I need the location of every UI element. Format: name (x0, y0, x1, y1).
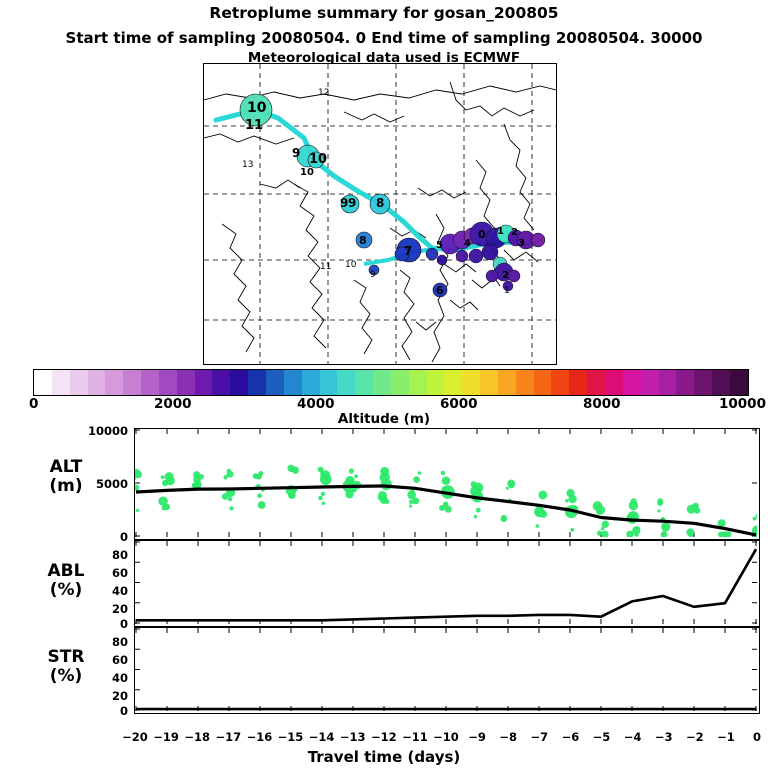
x-axis-tick: −6 (553, 730, 587, 744)
colorbar-swatch (641, 370, 659, 395)
x-axis-tick: −19 (149, 730, 183, 744)
str-ytick: 60 (68, 653, 128, 667)
map-label: 10 (247, 100, 266, 116)
abl-ytick: 80 (68, 548, 128, 562)
colorbar-swatch (177, 370, 195, 395)
colorbar-swatch (195, 370, 213, 395)
colorbar-swatch (391, 370, 409, 395)
colorbar-swatch (337, 370, 355, 395)
colorbar-swatch (266, 370, 284, 395)
colorbar-swatch (623, 370, 641, 395)
colorbar-swatch (516, 370, 534, 395)
x-axis-tick: −1 (709, 730, 743, 744)
colorbar-swatch (480, 370, 498, 395)
colorbar-tick: 2000 (154, 396, 192, 412)
map-label: 8 (376, 196, 384, 210)
x-axis-tick: −18 (180, 730, 214, 744)
map-label: 11 (245, 118, 263, 133)
colorbar-swatch (712, 370, 730, 395)
abl-ytick: 40 (68, 584, 128, 598)
map-label: 3 (518, 238, 525, 249)
colorbar-tick-labels: 0 2000 4000 6000 8000 10000 (33, 396, 747, 412)
colorbar-swatch (587, 370, 605, 395)
colorbar-swatch (355, 370, 373, 395)
map-label: 1 (497, 226, 504, 237)
colorbar-swatch (409, 370, 427, 395)
altitude-colorbar (33, 369, 749, 396)
colorbar-swatch (444, 370, 462, 395)
colorbar-swatch (212, 370, 230, 395)
x-axis-tick: −7 (522, 730, 556, 744)
map-label: 10 (300, 167, 314, 178)
map-label: 8 (359, 234, 367, 247)
map-label: 11 (320, 262, 331, 272)
x-axis-tick: −9 (460, 730, 494, 744)
str-ytick: 0 (68, 704, 128, 718)
map-label: 12 (318, 88, 329, 98)
x-axis-tick: 0 (740, 730, 768, 744)
map-label: 10 (309, 152, 327, 167)
colorbar-swatch (52, 370, 70, 395)
colorbar-swatch (462, 370, 480, 395)
colorbar-swatch (676, 370, 694, 395)
alt-ytick: 0 (68, 530, 128, 544)
x-axis-label: Travel time (days) (0, 748, 768, 766)
colorbar-swatch (70, 370, 88, 395)
colorbar-tick: 4000 (297, 396, 335, 412)
x-axis-tick: −11 (398, 730, 432, 744)
abl-ytick: 60 (68, 566, 128, 580)
page-title: Retroplume summary for gosan_200805 (0, 4, 768, 22)
str-ytick: 80 (68, 635, 128, 649)
colorbar-swatch (284, 370, 302, 395)
alt-ytick: 10000 (68, 424, 128, 438)
x-axis-tick: −8 (491, 730, 525, 744)
colorbar-tick: 6000 (440, 396, 478, 412)
alt-axis-label-line1: ALT (8, 458, 124, 477)
abl-ytick: 20 (68, 602, 128, 616)
colorbar-swatch (569, 370, 587, 395)
str-panel (134, 627, 760, 714)
x-axis-tick: −13 (336, 730, 370, 744)
retroplume-map: 10 11 9 10 10 9 9 8 8 7 6 12 13 11 10 9 … (203, 63, 557, 365)
str-ytick: 40 (68, 671, 128, 685)
map-label: 13 (242, 160, 253, 170)
x-axis-tick: −17 (211, 730, 245, 744)
x-axis-tick: −5 (585, 730, 619, 744)
x-axis-tick: −4 (616, 730, 650, 744)
map-label: 5 (436, 240, 443, 251)
colorbar-swatch (427, 370, 445, 395)
x-axis-tick: −20 (118, 730, 152, 744)
abl-panel (134, 540, 760, 627)
colorbar-swatch (659, 370, 677, 395)
str-ytick: 20 (68, 689, 128, 703)
colorbar-swatch (373, 370, 391, 395)
colorbar-tick: 8000 (583, 396, 621, 412)
colorbar-swatch (551, 370, 569, 395)
map-label: 10 (345, 260, 356, 270)
map-label-layer: 10 11 9 10 10 9 9 8 8 7 6 12 13 11 10 9 … (204, 64, 556, 364)
map-label: 9 (348, 196, 356, 210)
x-axis-ticks: −20−19−18−17−16−15−14−13−12−11−10−9−8−7−… (0, 730, 768, 746)
colorbar-swatch (230, 370, 248, 395)
map-label: 4 (464, 238, 471, 249)
colorbar-swatch (694, 370, 712, 395)
x-axis-tick: −2 (678, 730, 712, 744)
sampling-time-subtitle: Start time of sampling 20080504. 0 End t… (0, 29, 768, 47)
x-axis-tick: −15 (274, 730, 308, 744)
map-label: 2 (502, 270, 509, 281)
colorbar-swatch (88, 370, 106, 395)
colorbar-swatch (730, 370, 748, 395)
map-label: 2 (511, 227, 518, 238)
colorbar-swatch (534, 370, 552, 395)
x-axis-tick: −10 (429, 730, 463, 744)
alt-ytick: 5000 (68, 477, 128, 491)
map-label: 1 (504, 286, 510, 296)
colorbar-swatch (605, 370, 623, 395)
colorbar-swatch (159, 370, 177, 395)
map-label: 0 (478, 228, 486, 241)
colorbar-swatch (34, 370, 52, 395)
colorbar-swatch (105, 370, 123, 395)
x-axis-tick: −3 (647, 730, 681, 744)
colorbar-swatch (141, 370, 159, 395)
colorbar-swatch (320, 370, 338, 395)
colorbar-swatch (498, 370, 516, 395)
x-axis-tick: −16 (242, 730, 276, 744)
x-axis-tick: −12 (367, 730, 401, 744)
map-label: 7 (404, 244, 412, 258)
colorbar-swatch (123, 370, 141, 395)
colorbar-tick: 10000 (719, 396, 766, 412)
abl-ytick: 0 (68, 617, 128, 631)
map-label: 6 (436, 284, 444, 297)
x-axis-tick: −14 (305, 730, 339, 744)
colorbar-swatch (302, 370, 320, 395)
colorbar-tick: 0 (29, 396, 38, 412)
map-label: 9 (370, 270, 376, 280)
altitude-panel (134, 428, 760, 540)
map-label: 9 (292, 146, 300, 160)
colorbar-swatch (248, 370, 266, 395)
